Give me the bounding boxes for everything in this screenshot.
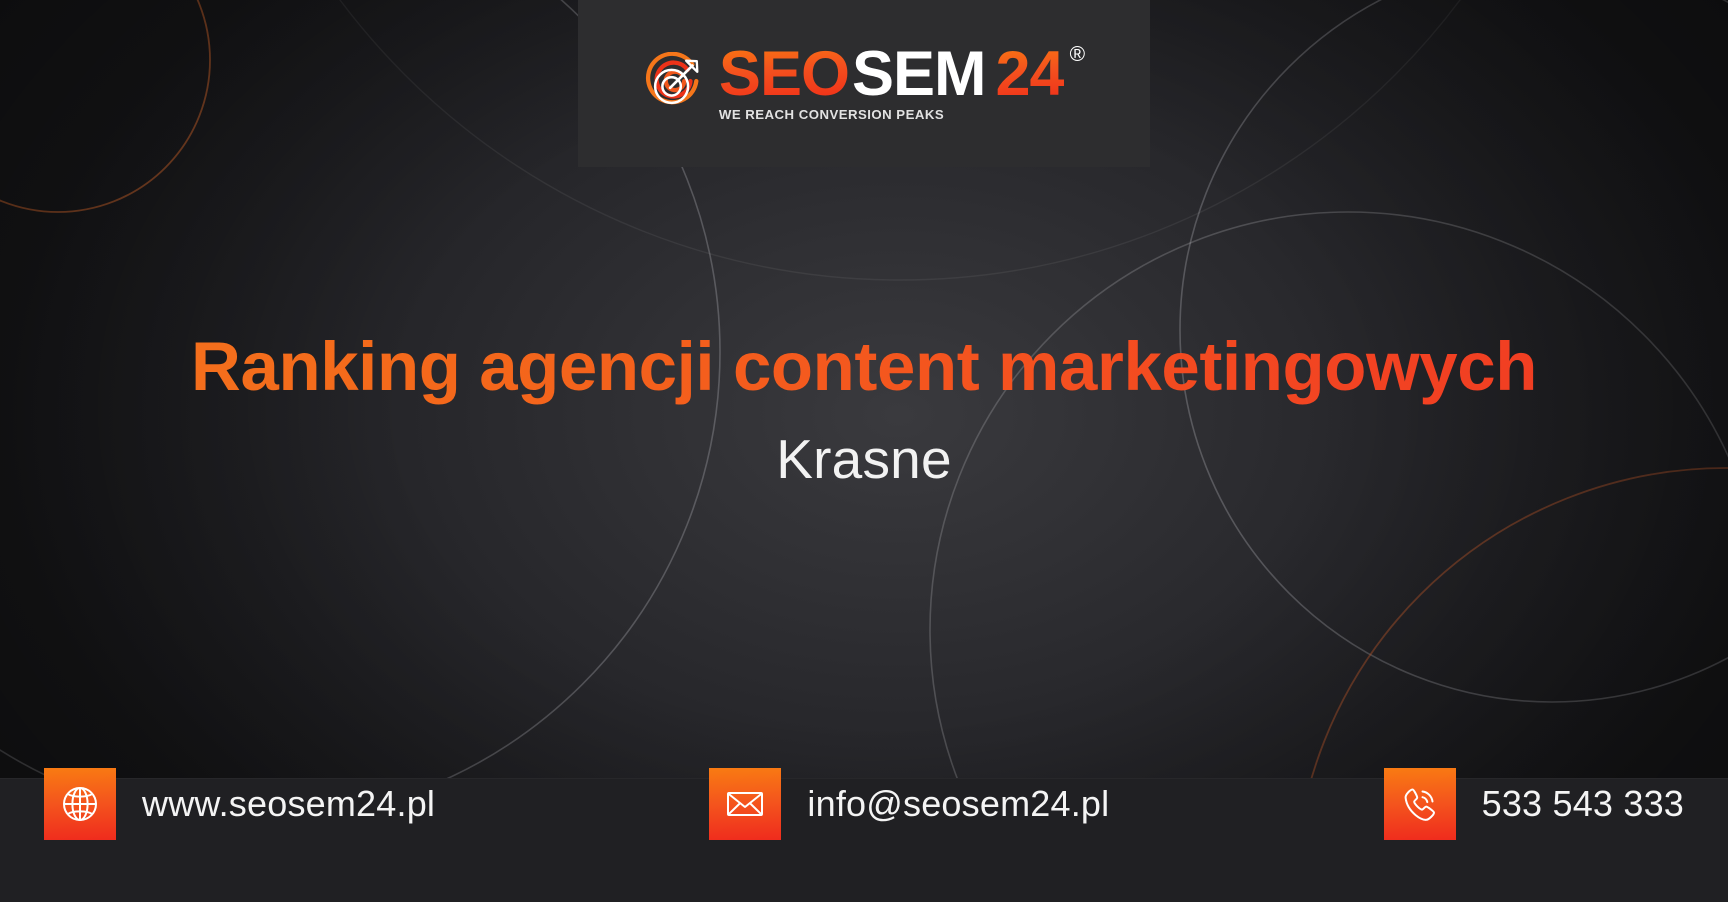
target-dart-icon	[644, 52, 706, 114]
contact-email[interactable]: info@seosem24.pl	[709, 768, 1109, 840]
envelope-icon	[709, 768, 781, 840]
contact-phone[interactable]: 533 543 333	[1384, 768, 1684, 840]
contact-email-text: info@seosem24.pl	[807, 783, 1109, 825]
logo-word-seo: SEO	[719, 43, 852, 106]
contact-website-text: www.seosem24.pl	[142, 783, 435, 825]
contact-phone-text: 533 543 333	[1482, 783, 1684, 825]
phone-icon	[1384, 768, 1456, 840]
registered-mark-icon: ®	[1070, 43, 1084, 66]
page-subtitle: Krasne	[0, 429, 1728, 490]
logo-tagline: WE REACH CONVERSION PEAKS	[719, 107, 1000, 122]
globe-icon	[44, 768, 116, 840]
logo-word-sem: SEM	[852, 43, 986, 106]
page-title: Ranking agencji content marketingowych	[0, 330, 1728, 405]
slide-canvas: SEO SEM 24 ® WE REACH CONVERSION PEAKS R…	[0, 0, 1728, 902]
footer-contacts: www.seosem24.pl info@seosem24.pl	[0, 722, 1728, 902]
headline-block: Ranking agencji content marketingowych K…	[0, 330, 1728, 489]
brand-logo-panel: SEO SEM 24 ® WE REACH CONVERSION PEAKS	[578, 0, 1150, 167]
logo-word-24: 24	[986, 43, 1064, 106]
contact-website[interactable]: www.seosem24.pl	[44, 768, 435, 840]
